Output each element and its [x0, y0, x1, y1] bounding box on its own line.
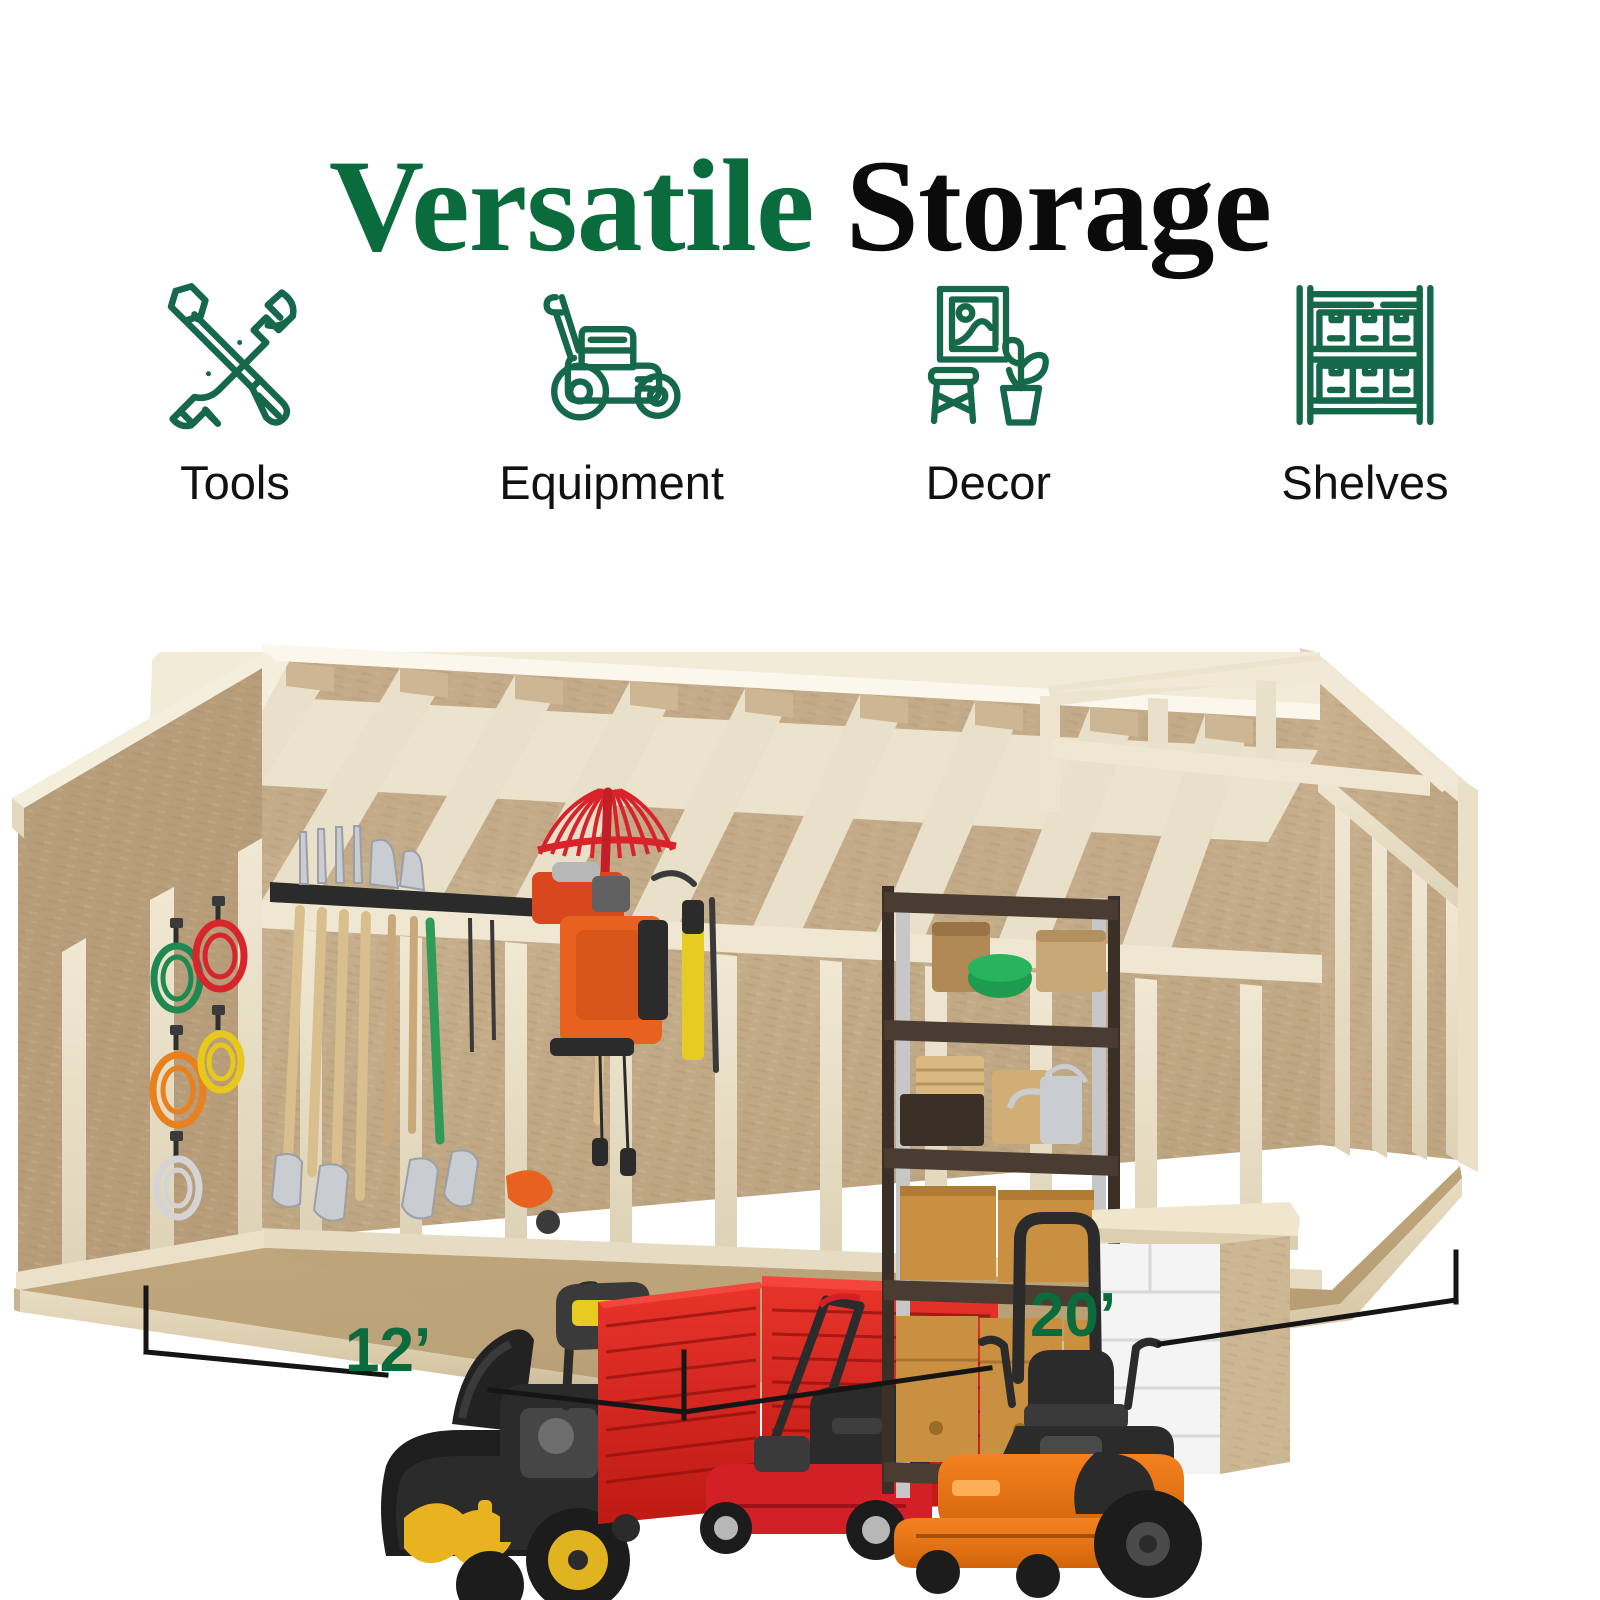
feature-item-decor: Decor — [813, 275, 1163, 509]
title-green-word: Versatile — [329, 132, 814, 279]
tools-crossed-wrench-screwdriver-icon — [155, 275, 315, 435]
lawn-mower-icon — [527, 275, 697, 435]
feature-item-equipment: Equipment — [437, 275, 787, 509]
page-title: Versatile Storage — [0, 140, 1600, 272]
dimension-label-width: 12’ — [345, 1320, 431, 1382]
feature-label-tools: Tools — [180, 457, 290, 509]
storage-shed-infographic: Versatile Storage — [0, 0, 1600, 1600]
feature-list: Tools — [60, 275, 1540, 525]
title-black-word: Storage — [814, 132, 1272, 279]
shelving-rack-with-boxes-icon — [1286, 275, 1444, 435]
feature-item-shelves: Shelves — [1190, 275, 1540, 509]
picture-frame-stool-plant-icon — [913, 275, 1063, 435]
dimension-label-length: 20’ — [1030, 1285, 1116, 1347]
storage-shed-illustration — [0, 600, 1600, 1600]
feature-label-decor: Decor — [926, 457, 1051, 509]
feature-label-shelves: Shelves — [1281, 457, 1448, 509]
feature-item-tools: Tools — [60, 275, 410, 509]
feature-label-equipment: Equipment — [499, 457, 724, 509]
